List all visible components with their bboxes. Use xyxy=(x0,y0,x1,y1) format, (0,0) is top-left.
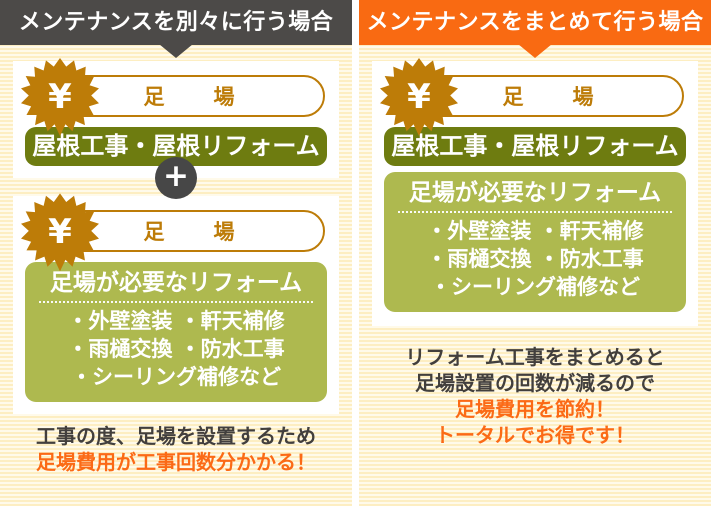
left-footer-note: 工事の度、足場を設置するため 足場費用が工事回数分かかる！ xyxy=(0,423,352,481)
right-reform-list-title: 足場が必要なリフォーム xyxy=(394,179,676,208)
note-line: 足場設置の回数が減るので xyxy=(359,370,711,396)
yen-symbol: ¥ xyxy=(407,80,431,114)
list-item: ・シーリング補修など xyxy=(394,274,676,302)
left-reform-divider xyxy=(39,301,313,303)
yen-starburst-icon: ¥ xyxy=(21,58,99,136)
right-scaffold-row: 足 場 ¥ xyxy=(384,71,686,121)
left-roof-work-label: 屋根工事・屋根リフォーム xyxy=(31,133,321,159)
left-scaffold-pill-2: 足 場 xyxy=(53,210,325,252)
right-roof-work-label: 屋根工事・屋根リフォーム xyxy=(390,133,680,159)
right-panel-title: メンテナンスをまとめて行う場合 xyxy=(366,12,703,34)
plus-glyph: + xyxy=(163,161,189,192)
left-scaffold-pill-1: 足 場 xyxy=(53,75,325,117)
note-line-accent: トータルでお得です！ xyxy=(359,422,711,448)
right-header-notch-icon xyxy=(518,44,552,58)
yen-symbol: ¥ xyxy=(48,215,72,249)
right-card-combined: 足 場 ¥ 屋根工事・屋根リフォーム 足場が必要なリフォーム ・外壁塗装 ・軒天… xyxy=(372,61,698,326)
right-scaffold-label: 足 場 xyxy=(489,81,608,111)
yen-symbol: ¥ xyxy=(48,80,72,114)
note-line-accent: 足場費用を節約！ xyxy=(359,396,711,422)
left-header-notch-icon xyxy=(159,44,193,58)
list-item: ・雨樋交換 ・防水工事 xyxy=(35,336,317,364)
list-item: ・外壁塗装 ・軒天補修 xyxy=(394,218,676,246)
left-scaffold-row-1: 足 場 ¥ xyxy=(25,71,327,121)
left-panel-header: メンテナンスを別々に行う場合 xyxy=(0,0,352,45)
left-reform-list-box: 足場が必要なリフォーム ・外壁塗装 ・軒天補修 ・雨樋交換 ・防水工事 ・シーリ… xyxy=(25,262,327,402)
right-footer-note: リフォーム工事をまとめると 足場設置の回数が減るので 足場費用を節約！ トータル… xyxy=(359,326,711,506)
left-panel-title: メンテナンスを別々に行う場合 xyxy=(19,12,334,34)
yen-starburst-icon: ¥ xyxy=(380,58,458,136)
left-scaffold-label-2: 足 場 xyxy=(130,216,249,246)
left-scaffold-row-2: 足 場 ¥ xyxy=(25,206,327,256)
panel-combined-maintenance: メンテナンスをまとめて行う場合 足 場 ¥ 屋根工事・屋根リフォーム 足場が必要… xyxy=(359,0,711,506)
left-reform-list-title: 足場が必要なリフォーム xyxy=(35,269,317,298)
right-reform-list-box: 足場が必要なリフォーム ・外壁塗装 ・軒天補修 ・雨樋交換 ・防水工事 ・シーリ… xyxy=(384,172,686,312)
right-reform-divider xyxy=(398,211,672,213)
left-scaffold-label-1: 足 場 xyxy=(130,81,249,111)
list-item: ・シーリング補修など xyxy=(35,364,317,392)
yen-starburst-icon: ¥ xyxy=(21,193,99,271)
note-line-accent: 足場費用が工事回数分かかる！ xyxy=(0,449,352,475)
plus-icon: + xyxy=(155,157,197,199)
left-card-scaffold-reform: 足 場 ¥ 足場が必要なリフォーム ・外壁塗装 ・軒天補修 ・雨樋交換 ・防水工… xyxy=(13,196,339,414)
right-roof-work-box: 屋根工事・屋根リフォーム xyxy=(384,127,686,166)
right-panel-header: メンテナンスをまとめて行う場合 xyxy=(359,0,711,45)
comparison-board: メンテナンスを別々に行う場合 足 場 ¥ 屋根工事・屋根リフォーム + xyxy=(0,0,711,506)
right-scaffold-pill: 足 場 xyxy=(412,75,684,117)
note-line: 工事の度、足場を設置するため xyxy=(0,423,352,449)
note-line: リフォーム工事をまとめると xyxy=(359,344,711,370)
list-item: ・外壁塗装 ・軒天補修 xyxy=(35,308,317,336)
panel-separate-maintenance: メンテナンスを別々に行う場合 足 場 ¥ 屋根工事・屋根リフォーム + xyxy=(0,0,352,506)
list-item: ・雨樋交換 ・防水工事 xyxy=(394,246,676,274)
